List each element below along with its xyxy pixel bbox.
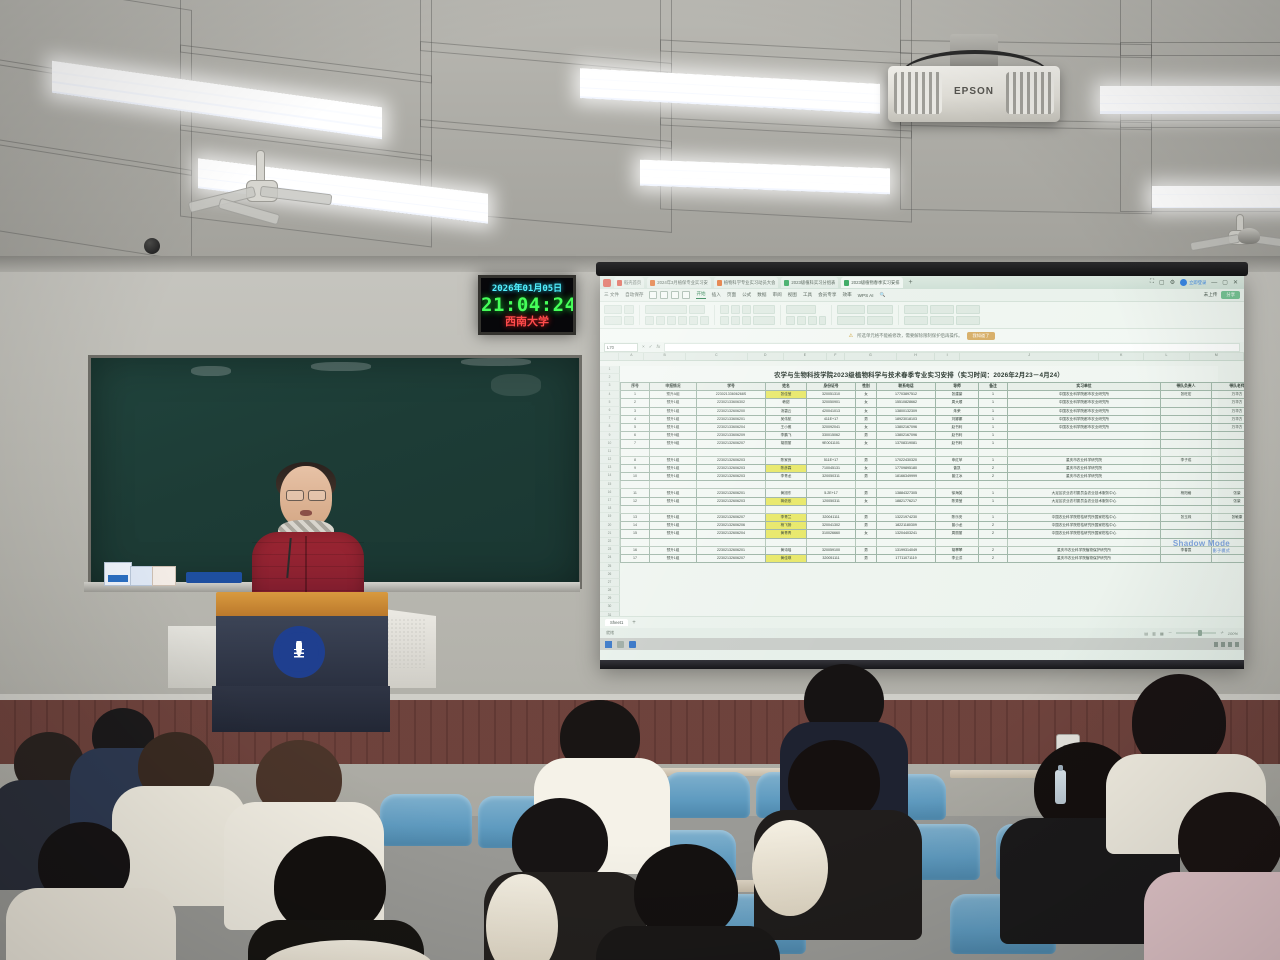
table-cell[interactable]: 张豪: [1212, 489, 1245, 497]
settings-icon[interactable]: ⚙: [1170, 279, 1175, 286]
tab-doc-1[interactable]: 2024年3月植保专业实习安: [647, 277, 711, 288]
table-cell[interactable]: 男: [856, 473, 877, 481]
table-cell[interactable]: [856, 481, 877, 489]
row-header-cell[interactable]: 25: [600, 563, 620, 571]
table-cell[interactable]: 女: [856, 464, 877, 472]
table-cell[interactable]: [856, 538, 877, 546]
table-cell[interactable]: [936, 505, 979, 513]
border-icon[interactable]: [678, 316, 687, 325]
zoom-slider[interactable]: [1176, 632, 1216, 634]
table-cell[interactable]: 男: [856, 432, 877, 440]
tray-icon[interactable]: [1228, 642, 1232, 647]
table-cell[interactable]: [877, 505, 936, 513]
column-header-k[interactable]: K: [1099, 353, 1144, 360]
table-row[interactable]: [621, 448, 1245, 456]
table-cell[interactable]: 320051111: [807, 554, 856, 562]
table-cell[interactable]: 女: [856, 399, 877, 407]
row-header-cell[interactable]: 2: [600, 374, 620, 382]
table-cell[interactable]: 杨阳格: [1161, 489, 1212, 497]
table-cell[interactable]: [1161, 481, 1212, 489]
table-cell[interactable]: 320059100: [807, 546, 856, 554]
row-header-cell[interactable]: 14: [600, 472, 620, 480]
table-cell[interactable]: 17703897512: [877, 391, 936, 399]
table-cell[interactable]: 22302133606302: [697, 399, 766, 407]
wps-icon[interactable]: [629, 641, 636, 648]
page-layout-icon[interactable]: ▥: [1152, 631, 1156, 636]
table-cell[interactable]: [1212, 448, 1245, 456]
table-cell[interactable]: 中国农业科学院柑桔研究所国家柑桔中心: [1008, 530, 1161, 538]
table-cell[interactable]: 男: [856, 415, 877, 423]
table-cell[interactable]: 张佳莹: [766, 391, 807, 399]
row-header-cell[interactable]: 23: [600, 546, 620, 554]
clear-icon[interactable]: [930, 316, 954, 325]
autosum-icon[interactable]: [904, 305, 928, 314]
menu-item-tools[interactable]: 工具: [803, 292, 812, 298]
table-cell[interactable]: 吴伟航: [766, 415, 807, 423]
table-cell[interactable]: 1: [979, 391, 1008, 399]
table-cell[interactable]: 2: [979, 554, 1008, 562]
table-cell[interactable]: [650, 481, 697, 489]
internship-table[interactable]: 序号申报情况学号姓名身份证号性别联系电话导师备注实习单位带队负责人带队老师 1预…: [620, 382, 1244, 563]
table-cell[interactable]: 13204403241: [877, 530, 936, 538]
table-cell[interactable]: 重庆市农业科学研究院: [1008, 464, 1161, 472]
table-cell[interactable]: 3: [621, 407, 650, 415]
row-header-cell[interactable]: 28: [600, 587, 620, 595]
row-header-cell[interactable]: 6: [600, 407, 620, 415]
column-header-j[interactable]: J: [960, 353, 1099, 360]
table-cell[interactable]: [936, 538, 979, 546]
table-cell[interactable]: 12: [621, 497, 650, 505]
redo-icon[interactable]: [682, 291, 690, 299]
row-header-cell[interactable]: 13: [600, 464, 620, 472]
table-cell[interactable]: [856, 505, 877, 513]
insert-function-icon[interactable]: fx: [657, 344, 661, 350]
table-cell[interactable]: 22302132606201: [697, 489, 766, 497]
find-icon[interactable]: [956, 316, 980, 325]
table-cell[interactable]: [1161, 407, 1212, 415]
start-icon[interactable]: [605, 641, 612, 648]
table-cell[interactable]: 22302132606207: [697, 514, 766, 522]
table-row[interactable]: 3预升1组22302132606200汤碧云420041013女13800132…: [621, 407, 1245, 415]
tray-icon[interactable]: [1214, 642, 1218, 647]
align-left-icon[interactable]: [720, 316, 729, 325]
table-cell[interactable]: 22302133606209: [697, 432, 766, 440]
table-cell[interactable]: 13884327305: [877, 489, 936, 497]
percent-icon[interactable]: [797, 316, 806, 325]
table-row[interactable]: 10预升1组22302132606203李青龙320050311男1816634…: [621, 473, 1245, 481]
table-cell[interactable]: 330015062: [807, 432, 856, 440]
table-cell[interactable]: 1: [979, 423, 1008, 431]
table-cell[interactable]: [1212, 464, 1245, 472]
table-row[interactable]: 9预升1组22302132606203陈彦霖710045131女17709895…: [621, 464, 1245, 472]
table-cell[interactable]: 预升1组: [650, 489, 697, 497]
table-cell[interactable]: 2: [621, 399, 650, 407]
table-cell[interactable]: 重庆市农业科学研究院: [1008, 473, 1161, 481]
table-row[interactable]: 7预升9组22302132606207胡丽丽9E0011101女13708319…: [621, 440, 1245, 448]
table-cell[interactable]: [697, 538, 766, 546]
table-cell[interactable]: 13800132309: [877, 407, 936, 415]
table-cell[interactable]: 重庆市农业科学院植物保护研究所: [1008, 554, 1161, 562]
tab-sheet-1[interactable]: 2023级植科实习分组表: [781, 277, 838, 288]
table-cell[interactable]: 男: [856, 456, 877, 464]
file-explorer-icon[interactable]: [617, 641, 624, 648]
menu-item-efficiency[interactable]: 效率: [842, 292, 851, 298]
save-icon[interactable]: [649, 291, 657, 299]
conditional-format-icon[interactable]: [837, 305, 865, 314]
row-header-cell[interactable]: 29: [600, 595, 620, 603]
table-cell[interactable]: 陈乐安: [936, 514, 979, 522]
fill-color-icon[interactable]: [689, 316, 698, 325]
table-cell[interactable]: 22302133606204: [697, 423, 766, 431]
table-cell[interactable]: 22302132606203: [697, 497, 766, 505]
table-cell[interactable]: 徐海英: [936, 489, 979, 497]
row-header-cell[interactable]: 9: [600, 432, 620, 440]
table-row[interactable]: 8预升1组22302132606203陈家良511E+17男1702243032…: [621, 456, 1245, 464]
table-cell[interactable]: 李青龙: [766, 473, 807, 481]
column-header-i[interactable]: I: [935, 353, 960, 360]
table-row[interactable]: 4预升1组22302133606201吴伟航411E+17男1892301810…: [621, 415, 1245, 423]
account-area[interactable]: 立即登录: [1180, 279, 1206, 286]
table-cell[interactable]: 万华方: [1212, 407, 1245, 415]
table-cell[interactable]: 1: [979, 456, 1008, 464]
table-cell[interactable]: 万华方: [1212, 415, 1245, 423]
table-cell[interactable]: 预升1组: [650, 423, 697, 431]
table-cell[interactable]: [1212, 530, 1245, 538]
increase-decimal-icon[interactable]: [819, 316, 826, 325]
table-cell[interactable]: 女: [856, 497, 877, 505]
row-header-cell[interactable]: 10: [600, 440, 620, 448]
row-header-cell[interactable]: 30: [600, 603, 620, 611]
copy-icon[interactable]: [604, 316, 622, 325]
table-cell[interactable]: 511E+17: [807, 456, 856, 464]
table-row[interactable]: 12预升1组22302132606203蒋依依120050311女1882177…: [621, 497, 1245, 505]
table-cell[interactable]: 22302132606203: [697, 473, 766, 481]
row-header-cell[interactable]: 1: [600, 366, 620, 374]
row-header-cell[interactable]: 3: [600, 382, 620, 390]
row-header-cell[interactable]: 5: [600, 399, 620, 407]
table-cell[interactable]: 黄青青: [766, 530, 807, 538]
column-header-g[interactable]: G: [845, 353, 898, 360]
normal-view-icon[interactable]: ▤: [1144, 631, 1148, 636]
table-row[interactable]: 13预升1组22302132606207李青兰320041111男1322197…: [621, 514, 1245, 522]
add-sheet-button[interactable]: +: [632, 620, 636, 626]
table-cell[interactable]: 17711071119: [877, 554, 936, 562]
table-cell[interactable]: [807, 481, 856, 489]
table-cell[interactable]: [1161, 440, 1212, 448]
table-row[interactable]: 16预升1组22302132606201黄诗瑶320059100男1319931…: [621, 546, 1245, 554]
table-cell[interactable]: 黄佳琪: [766, 554, 807, 562]
menu-item-formula[interactable]: 公式: [742, 292, 751, 298]
table-cell[interactable]: 4: [621, 415, 650, 423]
page-break-icon[interactable]: ▦: [1160, 631, 1164, 636]
table-cell[interactable]: [621, 505, 650, 513]
table-row[interactable]: 14预升1组22302132606206杨飞扬320041302男1822118…: [621, 522, 1245, 530]
table-cell[interactable]: 黄旭东: [766, 489, 807, 497]
table-cell[interactable]: 2: [979, 473, 1008, 481]
file-menu[interactable]: 三 文件: [604, 292, 619, 298]
table-cell[interactable]: 周大顺: [936, 399, 979, 407]
row-header-cell[interactable]: 18: [600, 505, 620, 513]
table-cell[interactable]: 张建豪: [936, 391, 979, 399]
table-cell[interactable]: 1: [979, 497, 1008, 505]
table-cell[interactable]: 2: [979, 530, 1008, 538]
table-cell[interactable]: 17022430320: [877, 456, 936, 464]
table-cell[interactable]: [979, 538, 1008, 546]
table-cell[interactable]: 重庆市农业科学院植物保护研究所: [1008, 546, 1161, 554]
align-bottom-icon[interactable]: [742, 305, 751, 314]
confirm-formula-icon[interactable]: ✓: [649, 344, 653, 350]
table-cell[interactable]: [1212, 473, 1245, 481]
table-row[interactable]: 17预升1组22302132606207黄佳琪320051111男1771107…: [621, 554, 1245, 562]
table-row[interactable]: 2预升1组22302133606302韩甜320050901女155108286…: [621, 399, 1245, 407]
table-cell[interactable]: 男: [856, 546, 877, 554]
table-cell[interactable]: [807, 538, 856, 546]
menu-item-review[interactable]: 审阅: [772, 292, 781, 298]
table-cell[interactable]: 曾凯: [936, 464, 979, 472]
table-cell[interactable]: 2: [979, 546, 1008, 554]
table-cell[interactable]: [1161, 423, 1212, 431]
table-cell[interactable]: 320041111: [807, 514, 856, 522]
table-cell[interactable]: 22302132606207: [697, 554, 766, 562]
row-header-cell[interactable]: 26: [600, 571, 620, 579]
formula-input[interactable]: [664, 343, 1240, 352]
table-cell[interactable]: 17: [621, 554, 650, 562]
table-cell[interactable]: [807, 505, 856, 513]
table-row[interactable]: 1预升A组22302133606268S张佳莹320051310女1770389…: [621, 391, 1245, 399]
table-cell[interactable]: [697, 505, 766, 513]
cell-style-icon[interactable]: [837, 316, 865, 325]
column-header-b[interactable]: B: [644, 353, 686, 360]
table-cell[interactable]: 预升1组: [650, 497, 697, 505]
tab-home[interactable]: 稻壳首页: [614, 277, 644, 288]
copy-icon[interactable]: ▢: [1159, 279, 1165, 286]
table-cell[interactable]: 320041302: [807, 522, 856, 530]
table-cell[interactable]: 22302133606268S: [697, 391, 766, 399]
table-cell[interactable]: 中国农业科学院都市农业研究所: [1008, 415, 1161, 423]
table-cell[interactable]: 大足区农业农村委员会农业技术服务中心: [1008, 489, 1161, 497]
table-cell[interactable]: 预升1组: [650, 530, 697, 538]
table-cell[interactable]: 韩甜: [766, 399, 807, 407]
align-right-icon[interactable]: [742, 316, 751, 325]
table-cell[interactable]: 曾小龙: [936, 522, 979, 530]
table-row[interactable]: 6预升9组22302133606209李鹏飞330015062男13802167…: [621, 432, 1245, 440]
table-cell[interactable]: [807, 448, 856, 456]
row-header-cell[interactable]: 11: [600, 448, 620, 456]
table-cell[interactable]: 22302132606206: [697, 522, 766, 530]
table-cell[interactable]: 22302132606204: [697, 530, 766, 538]
table-cell[interactable]: 刘娜娜: [936, 415, 979, 423]
table-cell[interactable]: 男: [856, 522, 877, 530]
table-cell[interactable]: 胡攀攀: [936, 546, 979, 554]
table-cell[interactable]: [936, 448, 979, 456]
table-cell[interactable]: 13221974230: [877, 514, 936, 522]
table-cell[interactable]: 张豪: [1212, 497, 1245, 505]
table-row[interactable]: [621, 505, 1245, 513]
table-cell[interactable]: 预升1组: [650, 514, 697, 522]
table-cell[interactable]: 预升1组: [650, 554, 697, 562]
table-cell[interactable]: 710045131: [807, 464, 856, 472]
table-cell[interactable]: 1: [621, 391, 650, 399]
table-cell[interactable]: 320092041: [807, 423, 856, 431]
table-cell[interactable]: 1: [979, 489, 1008, 497]
table-cell[interactable]: 女: [856, 423, 877, 431]
table-cell[interactable]: 男: [856, 514, 877, 522]
table-cell[interactable]: [1161, 530, 1212, 538]
table-cell[interactable]: 曾江冰: [936, 473, 979, 481]
menu-item-page[interactable]: 页面: [727, 292, 736, 298]
tray-icon[interactable]: [1235, 642, 1239, 647]
merge-cells-icon[interactable]: [753, 305, 775, 314]
table-cell[interactable]: [1212, 522, 1245, 530]
font-color-icon[interactable]: [700, 316, 709, 325]
table-cell[interactable]: 李青兰: [766, 514, 807, 522]
table-cell[interactable]: 15: [621, 530, 650, 538]
table-cell[interactable]: 预升9组: [650, 440, 697, 448]
table-cell[interactable]: 14: [621, 522, 650, 530]
table-cell[interactable]: 7: [621, 440, 650, 448]
search-icon[interactable]: 🔍: [880, 292, 886, 298]
table-cell[interactable]: 22302132606203: [697, 456, 766, 464]
table-cell[interactable]: 周丽丽: [936, 530, 979, 538]
row-header-cell[interactable]: 20: [600, 522, 620, 530]
maximize-button[interactable]: ▢: [1222, 279, 1228, 286]
table-cell[interactable]: [1212, 456, 1245, 464]
row-header-cell[interactable]: 15: [600, 481, 620, 489]
fill-icon[interactable]: [904, 316, 928, 325]
table-cell[interactable]: 9: [621, 464, 650, 472]
zoom-out-button[interactable]: －: [1168, 630, 1172, 636]
tab-doc-2[interactable]: 植物科学专业实习动员大会: [714, 277, 779, 288]
table-cell[interactable]: 万华方: [1212, 423, 1245, 431]
minimize-button[interactable]: —: [1211, 280, 1217, 286]
row-header-cell[interactable]: 22: [600, 538, 620, 546]
table-cell[interactable]: 申红苹: [936, 456, 979, 464]
table-cell[interactable]: 13802167096: [877, 423, 936, 431]
cut-icon[interactable]: [624, 305, 634, 314]
font-family-select[interactable]: [645, 305, 687, 314]
table-cell[interactable]: 9E0011101: [807, 440, 856, 448]
undo-icon[interactable]: [671, 291, 679, 299]
table-cell[interactable]: 320050901: [807, 399, 856, 407]
table-cell[interactable]: 18221180309: [877, 522, 936, 530]
menu-item-member[interactable]: 会员专享: [818, 292, 836, 298]
table-row[interactable]: 15预升1组22302132606204黄青青310026660女1320440…: [621, 530, 1245, 538]
table-cell[interactable]: [979, 481, 1008, 489]
row-header-cell[interactable]: 24: [600, 554, 620, 562]
menu-item-data[interactable]: 数据: [757, 292, 766, 298]
table-cell[interactable]: 胡丽丽: [766, 440, 807, 448]
zoom-in-button[interactable]: ＋: [1220, 630, 1224, 636]
column-header-m[interactable]: M: [1190, 353, 1244, 360]
restore-icon[interactable]: ⛶: [1150, 279, 1154, 286]
table-row[interactable]: [621, 481, 1245, 489]
format-painter-icon[interactable]: [624, 316, 634, 325]
table-cell[interactable]: [1161, 399, 1212, 407]
table-cell[interactable]: [697, 481, 766, 489]
table-cell[interactable]: 杨飞扬: [766, 522, 807, 530]
table-cell[interactable]: 1: [979, 407, 1008, 415]
table-cell[interactable]: [621, 448, 650, 456]
currency-icon[interactable]: [786, 316, 795, 325]
table-cell[interactable]: 重庆市农业科学研究院: [1008, 456, 1161, 464]
table-cell[interactable]: 预升1组: [650, 473, 697, 481]
table-cell[interactable]: 汤碧云: [766, 407, 807, 415]
table-cell[interactable]: [766, 505, 807, 513]
table-cell[interactable]: 8: [621, 456, 650, 464]
tray-icon[interactable]: [1221, 642, 1225, 647]
table-cell[interactable]: 女: [856, 407, 877, 415]
table-cell[interactable]: 万华方: [1212, 399, 1245, 407]
select-all-corner[interactable]: [600, 353, 619, 360]
table-cell[interactable]: 预升9组: [650, 432, 697, 440]
table-cell[interactable]: 男: [856, 489, 877, 497]
row-header-cell[interactable]: 21: [600, 530, 620, 538]
table-cell[interactable]: [650, 505, 697, 513]
table-cell[interactable]: [1212, 432, 1245, 440]
underline-icon[interactable]: [667, 316, 676, 325]
table-cell[interactable]: 中国农业科学院都市农业研究所: [1008, 399, 1161, 407]
table-cell[interactable]: [877, 481, 936, 489]
column-header-c[interactable]: C: [686, 353, 748, 360]
row-header-cell[interactable]: 7: [600, 415, 620, 423]
table-cell[interactable]: 11: [621, 489, 650, 497]
table-cell[interactable]: [766, 481, 807, 489]
table-cell[interactable]: [1161, 432, 1212, 440]
table-cell[interactable]: 13199314049: [877, 546, 936, 554]
align-top-icon[interactable]: [720, 305, 729, 314]
table-row[interactable]: 11预升1组22302132606201黄旭东5.2E+17男138843273…: [621, 489, 1245, 497]
row-header-cell[interactable]: 31: [600, 612, 620, 616]
table-cell[interactable]: 赵书利: [936, 440, 979, 448]
table-cell[interactable]: 6: [621, 432, 650, 440]
row-header-cell[interactable]: 12: [600, 456, 620, 464]
table-cell[interactable]: [936, 481, 979, 489]
row-header-cell[interactable]: 16: [600, 489, 620, 497]
print-icon[interactable]: [660, 291, 668, 299]
table-cell[interactable]: 5: [621, 423, 650, 431]
table-cell[interactable]: 411E+17: [807, 415, 856, 423]
column-header-d[interactable]: D: [748, 353, 784, 360]
table-cell[interactable]: 赵书利: [936, 423, 979, 431]
table-cell[interactable]: [1161, 448, 1212, 456]
table-cell[interactable]: 李子成: [1161, 456, 1212, 464]
table-cell[interactable]: 李鹏飞: [766, 432, 807, 440]
table-cell[interactable]: [1212, 481, 1245, 489]
table-row[interactable]: 5预升1组22302133606204王小雅320092041女13802167…: [621, 423, 1245, 431]
table-cell[interactable]: 1: [979, 514, 1008, 522]
table-cell[interactable]: [1212, 554, 1245, 562]
table-cell[interactable]: 赵书利: [936, 432, 979, 440]
table-cell[interactable]: [1161, 505, 1212, 513]
format-cells-icon[interactable]: [867, 316, 893, 325]
italic-icon[interactable]: [656, 316, 665, 325]
table-cell[interactable]: [1008, 481, 1161, 489]
table-cell[interactable]: 预升1组: [650, 464, 697, 472]
table-row[interactable]: [621, 538, 1245, 546]
table-cell[interactable]: 中国农业科学院都市农业研究所: [1008, 407, 1161, 415]
table-cell[interactable]: [697, 448, 766, 456]
table-cell[interactable]: 17709895180: [877, 464, 936, 472]
table-cell[interactable]: 16: [621, 546, 650, 554]
table-cell[interactable]: 18166349999: [877, 473, 936, 481]
table-cell[interactable]: 13708319081: [877, 440, 936, 448]
notice-dismiss-button[interactable]: 我知道了: [967, 332, 996, 340]
sheet-tab-sheet1[interactable]: Sheet1: [605, 619, 628, 626]
table-cell[interactable]: 预升1组: [650, 407, 697, 415]
table-cell[interactable]: 陈彦霖: [766, 464, 807, 472]
filter-icon[interactable]: [930, 305, 954, 314]
table-style-icon[interactable]: [867, 305, 893, 314]
